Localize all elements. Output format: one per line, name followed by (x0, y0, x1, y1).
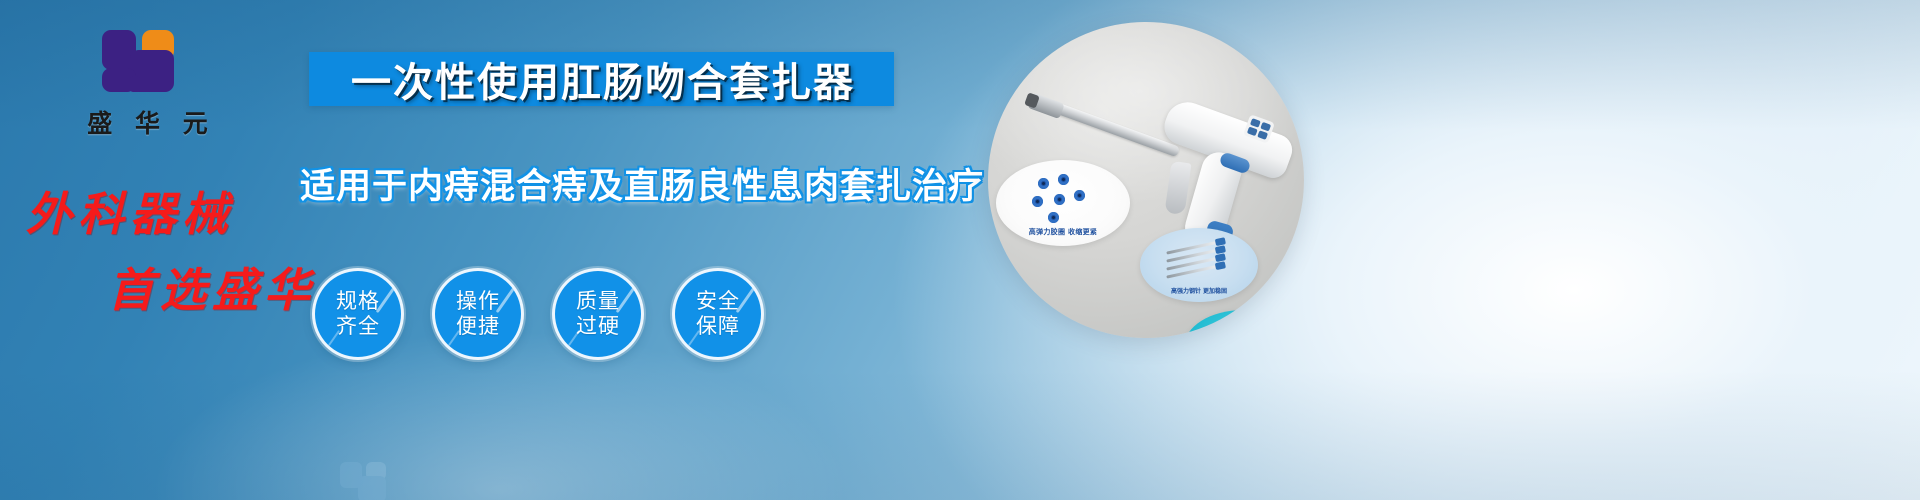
rubber-ring (1038, 178, 1049, 189)
feature-badge-2[interactable]: 操作 便捷 (432, 268, 524, 360)
brand-name: 盛 华 元 (60, 104, 235, 140)
slogan-block: 外科器械 首选盛华 (0, 178, 340, 320)
badge-label-line1: 安全 (696, 289, 740, 314)
feature-badge-1[interactable]: 规格 齐全 (312, 268, 404, 360)
rubber-ring (1048, 212, 1059, 223)
badge-label-line2: 便捷 (456, 314, 500, 339)
needle-set-caption: 高强力钢针 更加稳固 (1140, 286, 1258, 295)
rubber-ring (1054, 194, 1065, 205)
shenghuayuan-logo-icon (102, 28, 194, 100)
brand-logo-block[interactable]: 盛 华 元 (60, 28, 235, 140)
slogan-line-1: 外科器械 (26, 178, 340, 244)
product-photo: 高弹力胶圈 收缩更紧 高强力钢针 更加稳固 (988, 22, 1304, 338)
feature-badge-4[interactable]: 安全 保障 (672, 268, 764, 360)
badge-label-line1: 质量 (576, 289, 620, 314)
badge-label-line2: 齐全 (336, 314, 380, 339)
page-title: 一次性使用肛肠吻合套扎器 (318, 52, 888, 106)
badge-label-line1: 规格 (336, 289, 380, 314)
watermark-logo-icon (340, 462, 520, 500)
feature-badge-3[interactable]: 质量 过硬 (552, 268, 644, 360)
subtitle: 适用于内痔混合痔及直肠良性息肉套扎治疗 (300, 158, 900, 209)
feature-badge-list: 规格 齐全 操作 便捷 质量 过硬 安全 保障 (312, 268, 764, 360)
promo-banner: 盛 华 元 外科器械 首选盛华 一次性使用肛肠吻合套扎器 适用于内痔混合痔及直肠… (0, 0, 1920, 500)
rubber-ring (1058, 174, 1069, 185)
badge-label-line2: 保障 (696, 314, 740, 339)
needle-set-icon: 高强力钢针 更加稳固 (1140, 228, 1258, 302)
logo-square-5 (130, 76, 140, 92)
rubber-rings-icon: 高弹力胶圈 收缩更紧 (996, 160, 1130, 246)
rubber-ring (1074, 190, 1085, 201)
rubber-rings-caption: 高弹力胶圈 收缩更紧 (996, 227, 1130, 237)
badge-label-line2: 过硬 (576, 314, 620, 339)
slogan-line-2: 首选盛华 (108, 254, 340, 320)
rubber-ring (1032, 196, 1043, 207)
tube-body (1203, 332, 1283, 338)
badge-label-line1: 操作 (456, 289, 500, 314)
